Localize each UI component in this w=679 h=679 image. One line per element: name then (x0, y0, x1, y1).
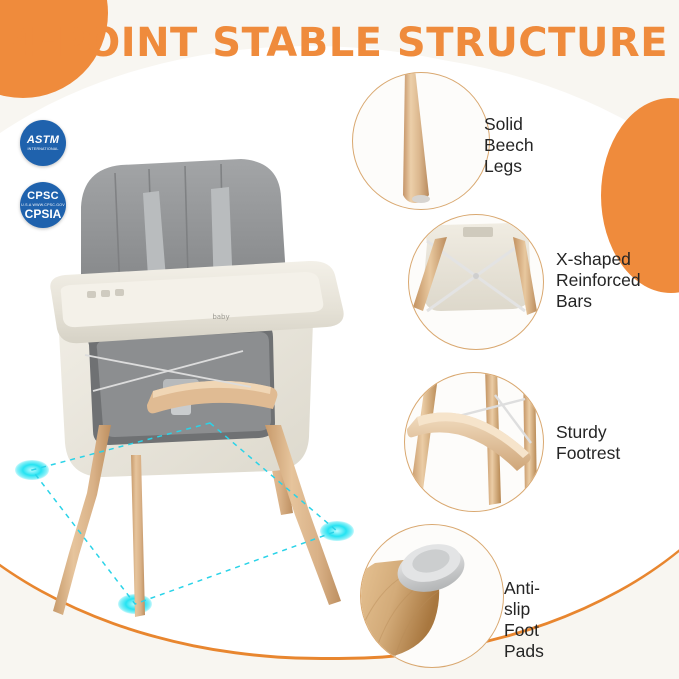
high-chair-image: baby (45, 95, 375, 625)
astm-badge-label: ASTM (27, 135, 59, 146)
callout-solid-beech-legs-circle (352, 72, 490, 210)
callout-footrest-label: Sturdy Footrest (556, 422, 620, 464)
callout-x-bars-label: X-shaped Reinforced Bars (556, 249, 641, 312)
certification-badges: ASTM INTERNATIONAL CPSC U.S.A WWW.CPSC.G… (20, 120, 66, 244)
cpsc-badge: CPSC U.S.A WWW.CPSC.GOV CPSIA (20, 182, 66, 228)
cpsc-badge-label: CPSC (27, 191, 59, 202)
beech-leg-detail-image (353, 73, 489, 209)
foot-pad-detail-image (361, 525, 503, 667)
astm-badge-sublabel: INTERNATIONAL (27, 147, 58, 152)
callout-footrest-circle (404, 372, 544, 512)
foot-point-far-left (15, 460, 49, 480)
astm-badge: ASTM INTERNATIONAL (20, 120, 66, 166)
cpsia-badge-label: CPSIA (25, 208, 62, 220)
callout-x-bars-circle (408, 214, 544, 350)
page-title-text: 4-Point Stable Structure (11, 20, 668, 66)
page-title: 4-Point Stable Structure (0, 20, 679, 66)
tray-logo: baby (212, 313, 229, 321)
x-bars-detail-image (409, 215, 543, 349)
callout-foot-pad-circle (360, 524, 504, 668)
footrest-detail-image (405, 373, 543, 511)
callout-foot-pad-label: Anti-slip Foot Pads (504, 578, 544, 662)
callout-solid-beech-legs-label: Solid Beech Legs (484, 114, 534, 177)
infographic-canvas: 4-Point Stable Structure ASTM INTERNATIO… (0, 0, 679, 679)
